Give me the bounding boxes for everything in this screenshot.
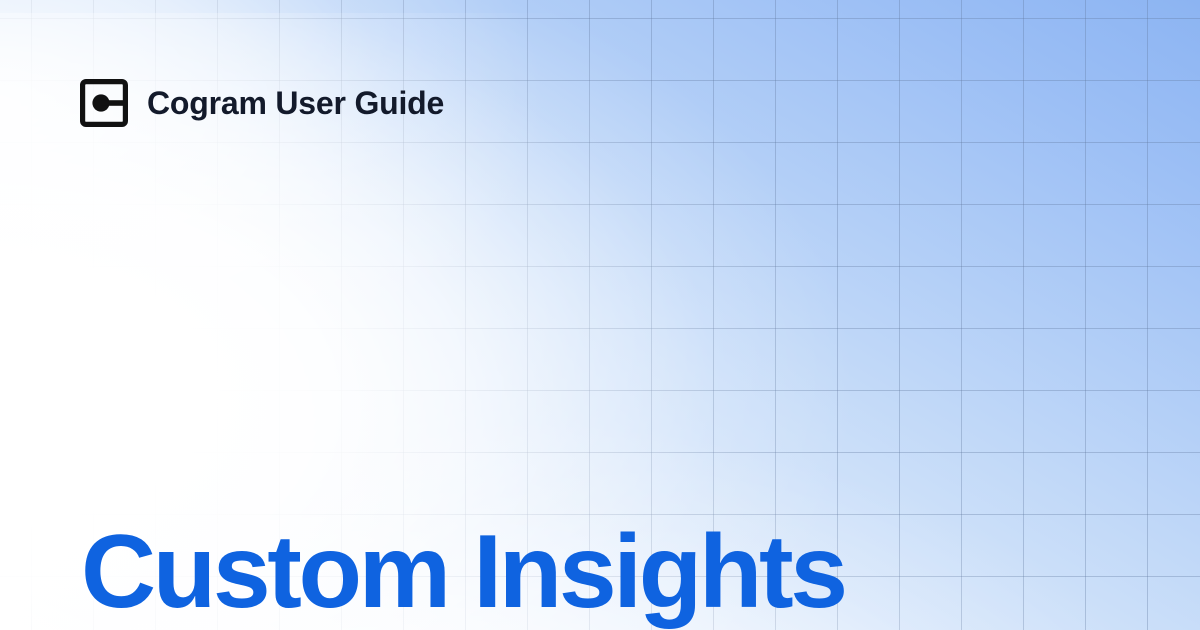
page-title: Custom Insights	[81, 517, 845, 627]
cogram-mark-icon	[80, 79, 128, 127]
og-banner: Cogram User Guide Custom Insights	[0, 0, 1200, 630]
brand-name: Cogram User Guide	[147, 87, 444, 119]
brand-lockup: Cogram User Guide	[80, 79, 444, 127]
banner-content: Cogram User Guide Custom Insights	[0, 0, 1200, 630]
